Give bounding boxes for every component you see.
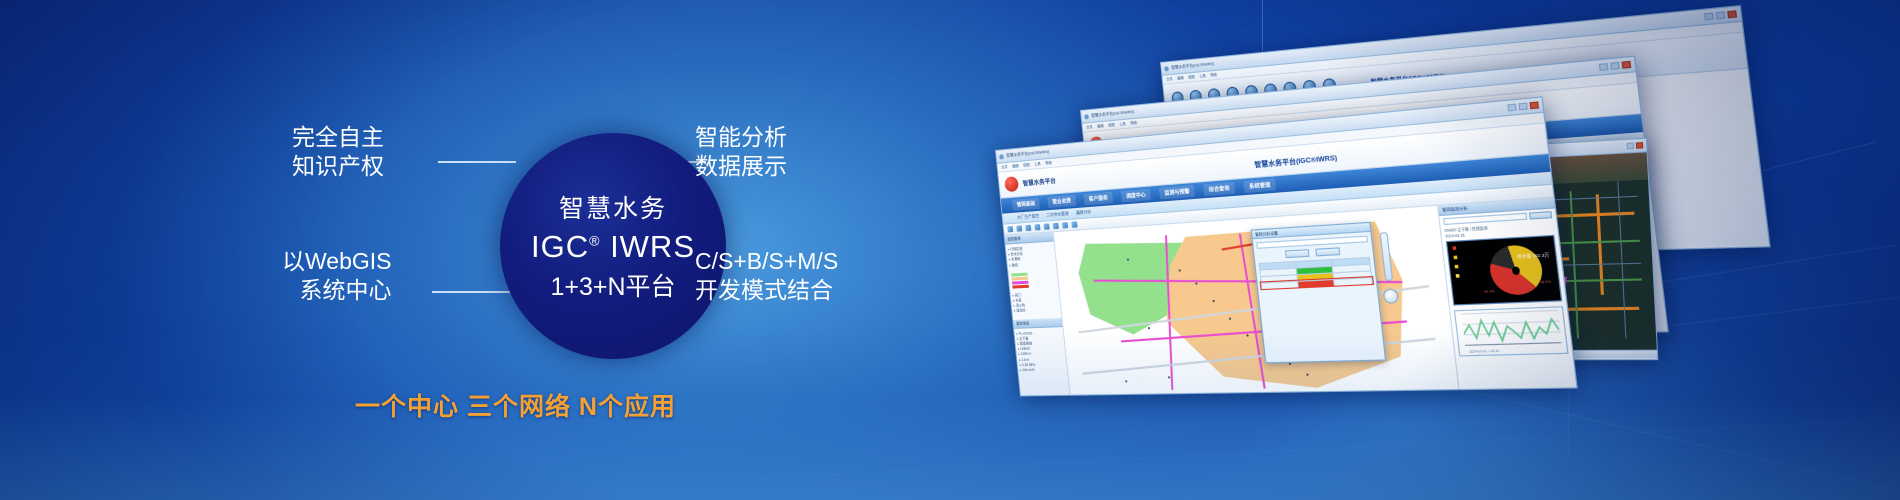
pie-chart-graphic: [1488, 245, 1546, 297]
pie-legend-swatch: [1453, 256, 1457, 260]
subnav-item-2[interactable]: 漏损分析: [1076, 209, 1092, 216]
window-controls[interactable]: [1507, 101, 1539, 111]
label-line2: 开发模式结合: [695, 276, 838, 305]
menu-item-edit[interactable]: 编辑: [1177, 75, 1184, 81]
menu-item-view[interactable]: 视图: [1108, 122, 1115, 128]
label-line2: 系统中心: [282, 276, 392, 305]
connector-top-left: [438, 161, 516, 163]
pie-legend-swatch: [1452, 246, 1456, 250]
subnav-item-0[interactable]: 水厂生产监控: [1017, 213, 1039, 221]
toolbar-zoom-out-icon[interactable]: [1025, 225, 1031, 231]
status-bar: 就绪: [1022, 396, 1578, 397]
layer-item[interactable]: 监测点: [1014, 307, 1059, 314]
window-icon: [1164, 66, 1169, 71]
pie-slice-label-0: 41.1%: [1484, 289, 1495, 294]
toolbar-pan-icon[interactable]: [1007, 226, 1013, 232]
label-line2: 数据展示: [695, 152, 787, 181]
window-controls[interactable]: [1704, 10, 1737, 20]
pie-legend-swatch: [1455, 265, 1459, 269]
circle-line-1: 智慧水务: [559, 189, 667, 225]
banner-stage: 智慧水务平台(IGC®IWRS) 文件 编辑 视图 工具 帮助: [0, 0, 1900, 500]
analysis-dialog[interactable]: 管网分析设置: [1250, 222, 1386, 363]
nav-item-6[interactable]: 系统管理: [1243, 179, 1276, 193]
legend-swatches: [1008, 269, 1058, 291]
menu-item-edit[interactable]: 编辑: [1012, 163, 1019, 169]
pie-chart-title: 供水量 102.3万: [1517, 253, 1550, 261]
connector-bottom-left: [432, 291, 516, 293]
window-title: 智慧水务平台(IGC®IWRS): [1091, 109, 1135, 119]
label-line1: 智能分析: [695, 124, 787, 150]
prop-row: 254 m³/h: [1020, 367, 1065, 373]
label-top-left: 完全自主 知识产权: [292, 123, 384, 182]
label-line1: 完全自主: [292, 124, 384, 150]
menu-item-help[interactable]: 帮助: [1045, 160, 1052, 166]
menu-item-help[interactable]: 帮助: [1130, 120, 1137, 126]
analysis-go-button[interactable]: [1529, 211, 1552, 220]
window-title: 智慧水务平台(IGC®IWRS): [1006, 149, 1049, 159]
dialog-grid[interactable]: [1258, 257, 1373, 290]
pie-chart[interactable]: 供水量 102.3万 41.1% 42.2%: [1446, 235, 1562, 306]
label-line1: 以WebGIS: [282, 248, 392, 274]
map-road-minor: [1618, 181, 1627, 338]
front-window[interactable]: 智慧水务平台(IGC®IWRS) 文件 编辑 视图 工具 帮助 智慧水务平台 智…: [995, 96, 1578, 396]
circle-line-2: IGC® IWRS: [531, 229, 695, 265]
subnav-item-1[interactable]: 二次供水管理: [1046, 211, 1069, 219]
dialog-reset-button[interactable]: [1315, 247, 1340, 256]
pie-slice-label-1: 42.2%: [1540, 279, 1551, 284]
infographic: 完全自主 知识产权 以WebGIS 系统中心 智能分析 数据展示 C/S+B/S…: [300, 95, 920, 425]
brand-name: 智慧水务平台: [1022, 176, 1056, 188]
center-circle: 智慧水务 IGC® IWRS 1+3+N平台: [500, 133, 726, 359]
menu-item-tools[interactable]: 工具: [1119, 121, 1126, 127]
circle-line-3: 1+3+N平台: [550, 267, 675, 303]
menu-item-file[interactable]: 文件: [1086, 124, 1093, 130]
label-bottom-left: 以WebGIS 系统中心: [282, 247, 392, 306]
gis-map-canvas[interactable]: 管网分析设置: [1054, 206, 1460, 397]
registered-mark-icon: ®: [589, 233, 600, 249]
product-suite: IWRS: [610, 229, 695, 264]
menu-item-tools[interactable]: 工具: [1034, 161, 1041, 167]
pie-legend-swatch: [1456, 274, 1460, 278]
tagline: 一个中心 三个网络 N个应用: [355, 387, 676, 423]
nav-item-4[interactable]: 监测与预警: [1159, 185, 1195, 199]
window-controls[interactable]: [1627, 142, 1644, 149]
analysis-panel[interactable]: 管网监测分析 DN600 主干管 / 在线监测 2024-03-18: [1437, 198, 1578, 397]
platform-title: 智慧水务平台(IGC®IWRS): [1254, 151, 1338, 169]
window-controls[interactable]: [1599, 61, 1632, 71]
dialog-query-button[interactable]: [1285, 249, 1310, 258]
layer-tree[interactable]: 行政区划 供水分区 水源地 管线: [1006, 241, 1057, 271]
toolbar-select-icon[interactable]: [1034, 224, 1040, 230]
menu-item-tools[interactable]: 工具: [1199, 73, 1206, 79]
layer-tree-lower[interactable]: 阀门 水表 消火栓 监测点: [1010, 288, 1061, 317]
menu-item-edit[interactable]: 编辑: [1097, 123, 1104, 129]
window-icon: [999, 154, 1004, 159]
window-icon: [1084, 114, 1089, 119]
mini-chart-xlabel: 2024-03-01 ~ 03-31: [1469, 348, 1499, 353]
nav-item-0[interactable]: 管网基础: [1012, 198, 1040, 211]
nav-item-2[interactable]: 客户服务: [1084, 192, 1114, 206]
toolbar-print-icon[interactable]: [1062, 222, 1068, 229]
props-list: PL-00218 主干管 球墨铸铁 DN600 1280 m 1.6 m 0.3…: [1014, 327, 1067, 377]
label-top-right: 智能分析 数据展示: [695, 123, 787, 182]
nav-item-3[interactable]: 调度中心: [1121, 189, 1151, 203]
legend-color-red: [1012, 285, 1029, 289]
label-bottom-right: C/S+B/S+M/S 开发模式结合: [695, 247, 838, 306]
product-code: IGC: [531, 229, 589, 264]
window-title: 智慧水务平台(IGC®IWRS): [1171, 61, 1215, 71]
mini-line-chart[interactable]: 2024-03-01 ~ 03-31: [1454, 306, 1569, 356]
menu-item-help[interactable]: 帮助: [1210, 72, 1217, 78]
label-line1: C/S+B/S+M/S: [695, 248, 838, 274]
company-logo-icon: [1004, 176, 1019, 192]
toolbar-zoom-in-icon[interactable]: [1016, 225, 1022, 231]
menu-item-view[interactable]: 视图: [1023, 162, 1030, 168]
toolbar-identify-icon[interactable]: [1053, 223, 1059, 229]
label-line2: 知识产权: [292, 152, 384, 181]
menu-item-file[interactable]: 文件: [1001, 164, 1008, 170]
nav-item-5[interactable]: 综合查询: [1203, 182, 1235, 196]
menu-item-view[interactable]: 视图: [1188, 74, 1195, 80]
nav-item-1[interactable]: 营业收费: [1047, 195, 1076, 208]
menu-item-file[interactable]: 文件: [1166, 76, 1173, 82]
toolbar-layers-icon[interactable]: [1071, 221, 1077, 228]
toolbar-measure-icon[interactable]: [1044, 223, 1050, 229]
